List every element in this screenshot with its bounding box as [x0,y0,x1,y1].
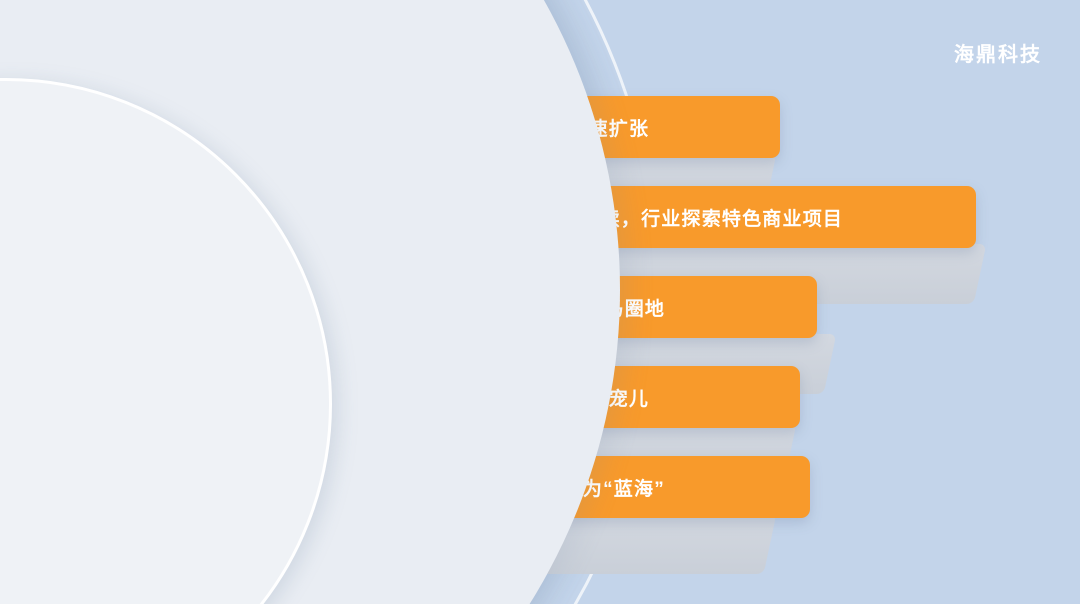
page-title: 行业总览 [60,272,232,330]
bar-shadow-slab-5 [264,514,777,574]
agenda-bar-label-4: 四：商管公司成资本宠儿 [427,384,649,411]
agenda-bar-label-3: 三：会员制商店跑马圈地 [443,294,665,321]
agenda-bar-label-2: 二：百货业关店潮持续，行业探索特色商业项目 [419,204,843,231]
agenda-bar-4[interactable]: 四：商管公司成资本宠儿 [240,366,800,428]
agenda-bar-2[interactable]: 二：百货业关店潮持续，行业探索特色商业项目 [250,186,976,248]
brand-logo: 海鼎科技 [954,38,1042,67]
agenda-bar-1[interactable]: 一：高端商业项目加速扩张 [240,96,780,158]
agenda-bar-3[interactable]: 三：会员制商店跑马圈地 [255,276,817,338]
agenda-bar-label-1: 一：高端商业项目加速扩张 [407,114,649,141]
slide-canvas: 一：高端商业项目加速扩张 二：百货业关店潮持续，行业探索特色商业项目 三：会员制… [0,0,1080,604]
agenda-bar-5[interactable]: 五：免税市场开发成为“蓝海” [220,456,810,518]
agenda-bar-label-5: 五：免税市场开发成为“蓝海” [401,474,665,501]
